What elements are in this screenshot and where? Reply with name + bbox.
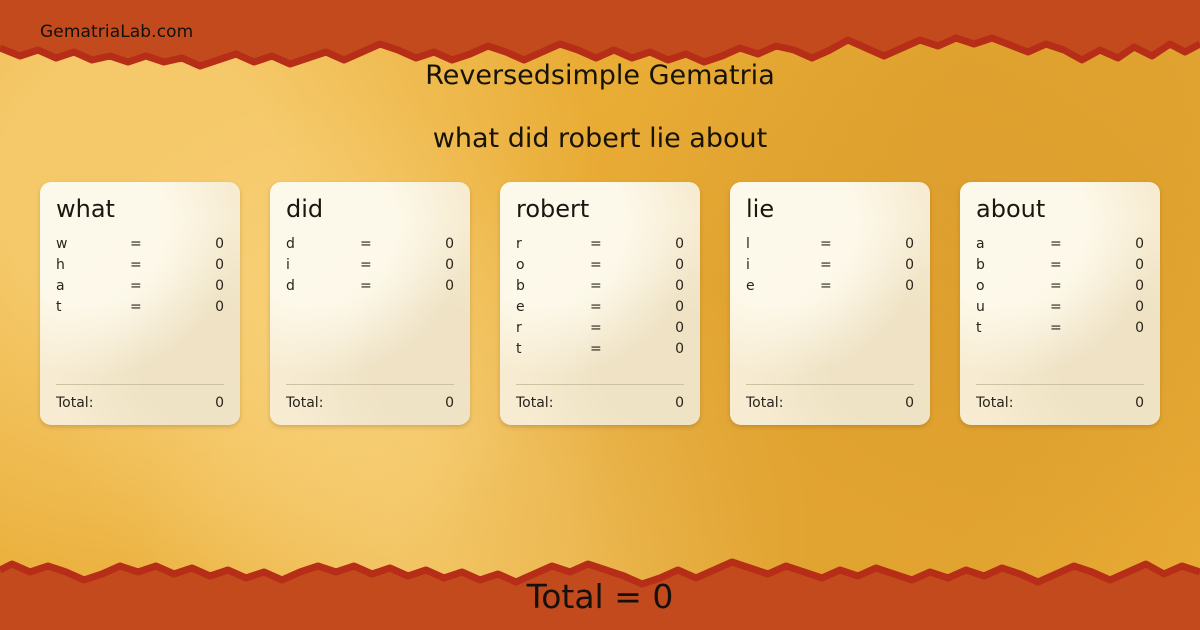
page-background: GematriaLab.com Reversedsimple Gematria … [0, 0, 1200, 630]
letter-value: 0 [866, 278, 914, 294]
word-card-list: whatw=0h=0a=0t=0Total:0didd=0i=0d=0Total… [40, 182, 1160, 425]
site-logo[interactable]: GematriaLab.com [40, 22, 193, 42]
equals-sign: = [130, 278, 176, 294]
letter-value: 0 [406, 236, 454, 252]
letter-row: o=0 [516, 257, 684, 278]
page-title: Reversedsimple Gematria [0, 60, 1200, 91]
letter-row: t=0 [56, 299, 224, 320]
letter-value: 0 [636, 236, 684, 252]
word-card-title: what [56, 196, 224, 222]
letter-label: e [746, 278, 820, 294]
letter-label: b [976, 257, 1050, 273]
card-total-label: Total: [976, 395, 1135, 411]
card-total-row: Total:0 [746, 395, 914, 411]
equals-sign: = [820, 236, 866, 252]
card-divider [56, 384, 224, 385]
letter-value: 0 [866, 236, 914, 252]
letter-label: u [976, 299, 1050, 315]
word-card: liel=0i=0e=0Total:0 [730, 182, 930, 425]
letter-label: b [516, 278, 590, 294]
card-divider [286, 384, 454, 385]
letter-row: a=0 [56, 278, 224, 299]
card-total-label: Total: [746, 395, 905, 411]
letter-value: 0 [1096, 320, 1144, 336]
letter-label: i [746, 257, 820, 273]
card-total-row: Total:0 [516, 395, 684, 411]
card-divider [516, 384, 684, 385]
equals-sign: = [590, 341, 636, 357]
equals-sign: = [590, 299, 636, 315]
letter-value: 0 [636, 257, 684, 273]
letter-row: t=0 [976, 320, 1144, 341]
letter-row: e=0 [516, 299, 684, 320]
letter-row-list: a=0b=0o=0u=0t=0 [976, 236, 1144, 384]
letter-value: 0 [176, 257, 224, 273]
equals-sign: = [130, 299, 176, 315]
letter-label: r [516, 320, 590, 336]
letter-value: 0 [176, 278, 224, 294]
letter-value: 0 [176, 299, 224, 315]
card-total-row: Total:0 [286, 395, 454, 411]
letter-label: d [286, 278, 360, 294]
equals-sign: = [360, 278, 406, 294]
equals-sign: = [590, 278, 636, 294]
word-card: whatw=0h=0a=0t=0Total:0 [40, 182, 240, 425]
letter-row: i=0 [746, 257, 914, 278]
letter-value: 0 [406, 257, 454, 273]
letter-row: i=0 [286, 257, 454, 278]
letter-row: t=0 [516, 341, 684, 362]
card-divider [746, 384, 914, 385]
letter-value: 0 [1096, 257, 1144, 273]
equals-sign: = [1050, 278, 1096, 294]
letter-label: t [976, 320, 1050, 336]
letter-row: b=0 [976, 257, 1144, 278]
letter-value: 0 [1096, 236, 1144, 252]
equals-sign: = [1050, 299, 1096, 315]
letter-row: w=0 [56, 236, 224, 257]
equals-sign: = [590, 236, 636, 252]
letter-label: e [516, 299, 590, 315]
letter-row: d=0 [286, 236, 454, 257]
letter-label: o [516, 257, 590, 273]
letter-row: o=0 [976, 278, 1144, 299]
card-total-label: Total: [286, 395, 445, 411]
equals-sign: = [1050, 320, 1096, 336]
letter-row: u=0 [976, 299, 1144, 320]
letter-row: b=0 [516, 278, 684, 299]
equals-sign: = [360, 257, 406, 273]
letter-label: o [976, 278, 1050, 294]
letter-row: r=0 [516, 320, 684, 341]
letter-row: l=0 [746, 236, 914, 257]
card-total-row: Total:0 [56, 395, 224, 411]
word-card-title: lie [746, 196, 914, 222]
equals-sign: = [130, 236, 176, 252]
equals-sign: = [820, 257, 866, 273]
letter-value: 0 [636, 299, 684, 315]
letter-label: t [516, 341, 590, 357]
equals-sign: = [1050, 236, 1096, 252]
letter-label: a [976, 236, 1050, 252]
card-divider [976, 384, 1144, 385]
letter-label: h [56, 257, 130, 273]
word-card-title: about [976, 196, 1144, 222]
word-card: abouta=0b=0o=0u=0t=0Total:0 [960, 182, 1160, 425]
letter-row: e=0 [746, 278, 914, 299]
letter-label: a [56, 278, 130, 294]
equals-sign: = [590, 320, 636, 336]
grand-total: Total = 0 [0, 577, 1200, 616]
letter-row-list: d=0i=0d=0 [286, 236, 454, 384]
letter-label: t [56, 299, 130, 315]
letter-row: h=0 [56, 257, 224, 278]
letter-value: 0 [636, 341, 684, 357]
letter-row-list: r=0o=0b=0e=0r=0t=0 [516, 236, 684, 384]
letter-value: 0 [176, 236, 224, 252]
letter-label: r [516, 236, 590, 252]
phrase-subtitle: what did robert lie about [0, 123, 1200, 154]
letter-value: 0 [866, 257, 914, 273]
equals-sign: = [820, 278, 866, 294]
card-total-label: Total: [516, 395, 675, 411]
letter-row: a=0 [976, 236, 1144, 257]
letter-value: 0 [636, 278, 684, 294]
letter-label: d [286, 236, 360, 252]
letter-row-list: l=0i=0e=0 [746, 236, 914, 384]
word-card: didd=0i=0d=0Total:0 [270, 182, 470, 425]
card-total-label: Total: [56, 395, 215, 411]
letter-label: i [286, 257, 360, 273]
card-total-value: 0 [1135, 395, 1144, 411]
letter-value: 0 [1096, 299, 1144, 315]
word-card: robertr=0o=0b=0e=0r=0t=0Total:0 [500, 182, 700, 425]
word-card-title: robert [516, 196, 684, 222]
equals-sign: = [590, 257, 636, 273]
letter-row: d=0 [286, 278, 454, 299]
card-total-value: 0 [215, 395, 224, 411]
letter-value: 0 [1096, 278, 1144, 294]
letter-value: 0 [406, 278, 454, 294]
letter-row: r=0 [516, 236, 684, 257]
card-total-row: Total:0 [976, 395, 1144, 411]
card-total-value: 0 [445, 395, 454, 411]
letter-row-list: w=0h=0a=0t=0 [56, 236, 224, 384]
letter-value: 0 [636, 320, 684, 336]
equals-sign: = [360, 236, 406, 252]
equals-sign: = [130, 257, 176, 273]
letter-label: l [746, 236, 820, 252]
word-card-title: did [286, 196, 454, 222]
card-total-value: 0 [675, 395, 684, 411]
letter-label: w [56, 236, 130, 252]
equals-sign: = [1050, 257, 1096, 273]
card-total-value: 0 [905, 395, 914, 411]
